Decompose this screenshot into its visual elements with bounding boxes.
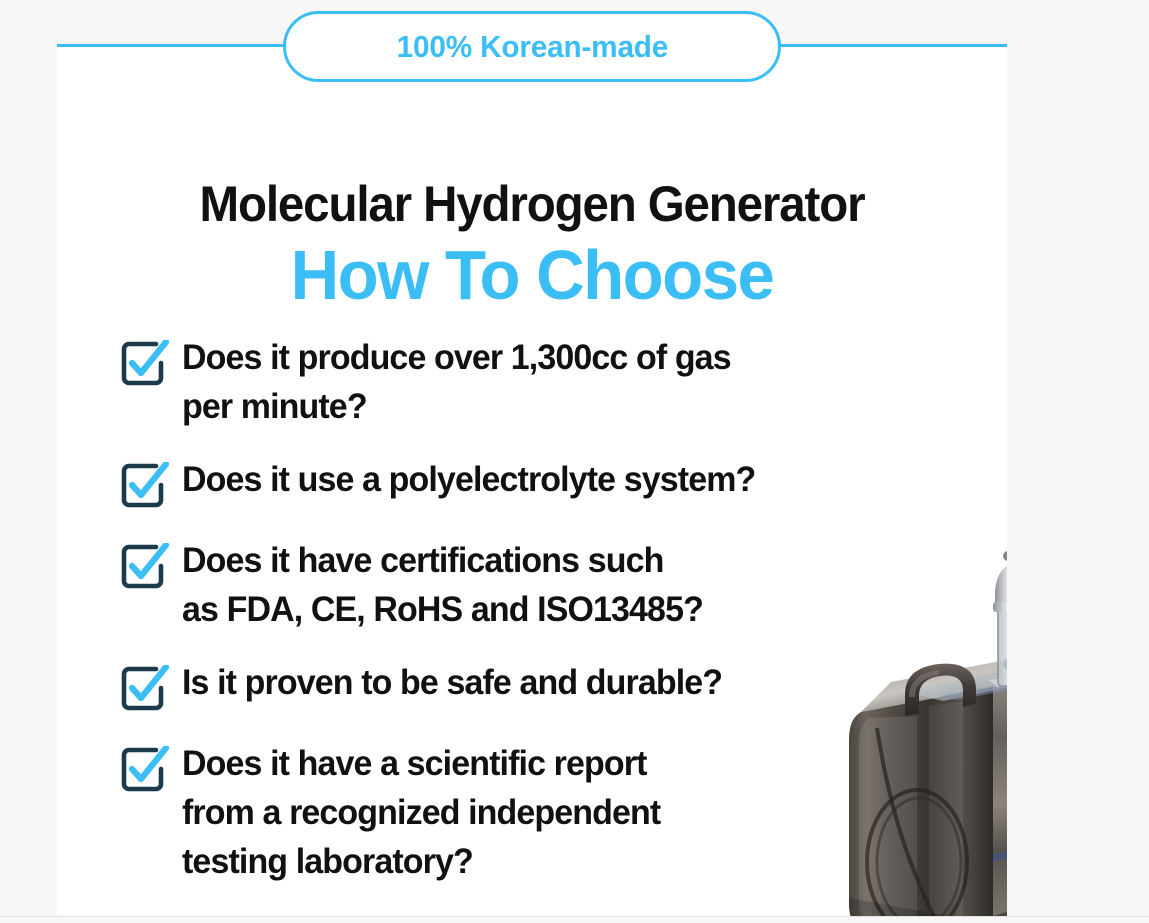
list-item: Does it use a polyelectrolyte system? xyxy=(118,455,918,512)
heading-block: Molecular Hydrogen Generator How To Choo… xyxy=(57,175,1007,315)
footer-divider-line xyxy=(0,916,1149,917)
content-card: Molecular Hydrogen Generator How To Choo… xyxy=(57,45,1007,917)
list-item-label: Is it proven to be safe and durable? xyxy=(182,658,722,707)
status-badge: 100% Korean-made xyxy=(283,11,781,82)
checked-checkbox-icon xyxy=(118,746,172,796)
checked-checkbox-icon xyxy=(118,462,172,512)
page-subtitle: How To Choose xyxy=(76,235,988,315)
list-item: Does it have a scientific report from a … xyxy=(118,739,918,886)
page-title: Molecular Hydrogen Generator xyxy=(81,175,984,233)
list-item: Does it have certifications such as FDA,… xyxy=(118,536,918,634)
checklist: Does it produce over 1,300cc of gas per … xyxy=(118,333,918,910)
list-item-label: Does it have a scientific report from a … xyxy=(182,739,660,886)
list-item-label: Does it produce over 1,300cc of gas per … xyxy=(182,333,731,431)
checked-checkbox-icon xyxy=(118,665,172,715)
list-item-label: Does it use a polyelectrolyte system? xyxy=(182,455,755,504)
status-badge-label: 100% Korean-made xyxy=(396,29,668,65)
list-item: Does it produce over 1,300cc of gas per … xyxy=(118,333,918,431)
list-item: Is it proven to be safe and durable? xyxy=(118,658,918,715)
checked-checkbox-icon xyxy=(118,543,172,593)
list-item-label: Does it have certifications such as FDA,… xyxy=(182,536,703,634)
checked-checkbox-icon xyxy=(118,340,172,390)
